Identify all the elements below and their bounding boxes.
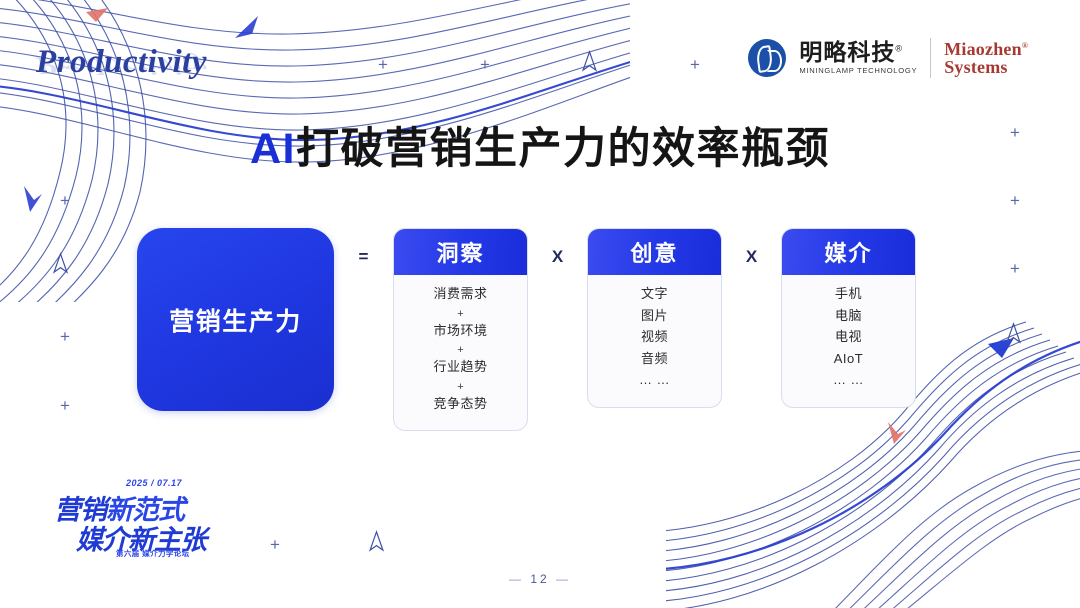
factor-card-body: 手机 电脑 电视 AIoT … … [782,275,915,407]
operator-times: X [722,228,781,411]
main-concept-label: 营销生产力 [169,302,302,338]
factor-card-header: 媒介 [782,229,915,275]
chevron-up-decor-icon [582,50,597,72]
logo-bar: 明略科技® MININGLAMP TECHNOLOGY Miaozhen® Sy… [748,38,1028,78]
factor-item: 市场环境 [400,324,521,337]
factor-card-insight: 洞察 消费需求 + 市场环境 + 行业趋势 + 竞争态势 [393,228,528,431]
plus-decor-icon: + [270,536,280,553]
plus-decor-icon: + [60,192,70,209]
factor-card-media: 媒介 手机 电脑 电视 AIoT … … [781,228,916,408]
factor-item: 图片 [594,309,715,322]
arrow-marker-red [86,8,108,22]
logo-divider [930,38,931,78]
factor-item: 电视 [788,330,909,343]
plus-decor-icon: + [1010,260,1020,277]
factor-card-body: 消费需求 + 市场环境 + 行业趋势 + 竞争态势 [394,275,527,430]
factor-item: 行业趋势 [400,360,521,373]
factor-item: 音频 [594,352,715,365]
factor-card-header: 创意 [588,229,721,275]
mininglamp-name-cn: 明略科技® [799,41,917,64]
plus-decor-icon: + [690,56,700,73]
page-title-rest: 打破营销生产力的效率瓶颈 [296,125,830,173]
chevron-up-decor-icon [369,530,384,552]
mininglamp-logo-text: 明略科技® MININGLAMP TECHNOLOGY [799,41,917,75]
plus-decor-icon: + [1010,124,1020,141]
factor-separator: + [400,345,521,356]
factor-card-creative: 创意 文字 图片 视频 音频 … … [587,228,722,408]
factor-item: AIoT [788,352,909,365]
factor-item: 文字 [594,287,715,300]
page-number-dash-left: — [509,572,524,586]
operator-equals: = [334,228,393,411]
slide-canvas: Productivity Productivity 明略科技® MININGLA… [0,0,1080,608]
formula-diagram: 营销生产力 = 洞察 消费需求 + 市场环境 + 行业趋势 + 竞争态势 X 创… [137,228,916,431]
event-logo-subtitle: 第六届 媒介力学论坛 [116,548,190,559]
arrow-marker-blue [235,16,268,38]
operator-times: X [528,228,587,411]
factor-item: 视频 [594,330,715,343]
miaozhen-logo: Miaozhen® Systems [944,40,1028,77]
factor-item: … … [788,373,909,386]
factor-separator: + [400,309,521,320]
plus-decor-icon: + [1010,192,1020,209]
mininglamp-name-en: MININGLAMP TECHNOLOGY [799,67,917,75]
factor-card-header: 洞察 [394,229,527,275]
page-title: AI打破营销生产力的效率瓶颈 [0,114,1080,176]
factor-item: 电脑 [788,309,909,322]
event-logo: 2025 / 07.17 营销新范式 媒介新主张 第六届 媒介力学论坛 [52,478,212,562]
miaozhen-name-label: Miaozhen [944,39,1022,59]
main-concept-box: 营销生产力 [137,228,334,411]
registered-mark-icon: ® [895,44,903,54]
event-logo-date: 2025 / 07.17 [126,478,182,488]
factor-item: 手机 [788,287,909,300]
chevron-up-decor-icon [1006,322,1021,344]
page-title-accent: AI [250,125,296,173]
factor-item: 竞争态势 [400,397,521,410]
plus-decor-icon: + [378,56,388,73]
productivity-script-text: Productivity [36,44,207,81]
chevron-up-decor-icon [53,252,68,274]
page-number: — 12 — [0,572,1080,586]
factor-item: … … [594,373,715,386]
page-number-dash-right: — [556,572,571,586]
factor-separator: + [400,382,521,393]
factor-card-body: 文字 图片 视频 音频 … … [588,275,721,407]
factor-item: 消费需求 [400,287,521,300]
page-number-value: 12 [530,572,549,586]
mininglamp-logo-icon [748,39,786,77]
registered-mark-icon: ® [1022,41,1028,50]
plus-decor-icon: + [60,328,70,345]
plus-decor-icon: + [60,397,70,414]
miaozhen-name-line1: Miaozhen® [944,40,1028,58]
plus-decor-icon: + [480,56,490,73]
miaozhen-name-line2: Systems [944,58,1028,76]
mininglamp-name-cn-label: 明略科技 [799,39,895,65]
